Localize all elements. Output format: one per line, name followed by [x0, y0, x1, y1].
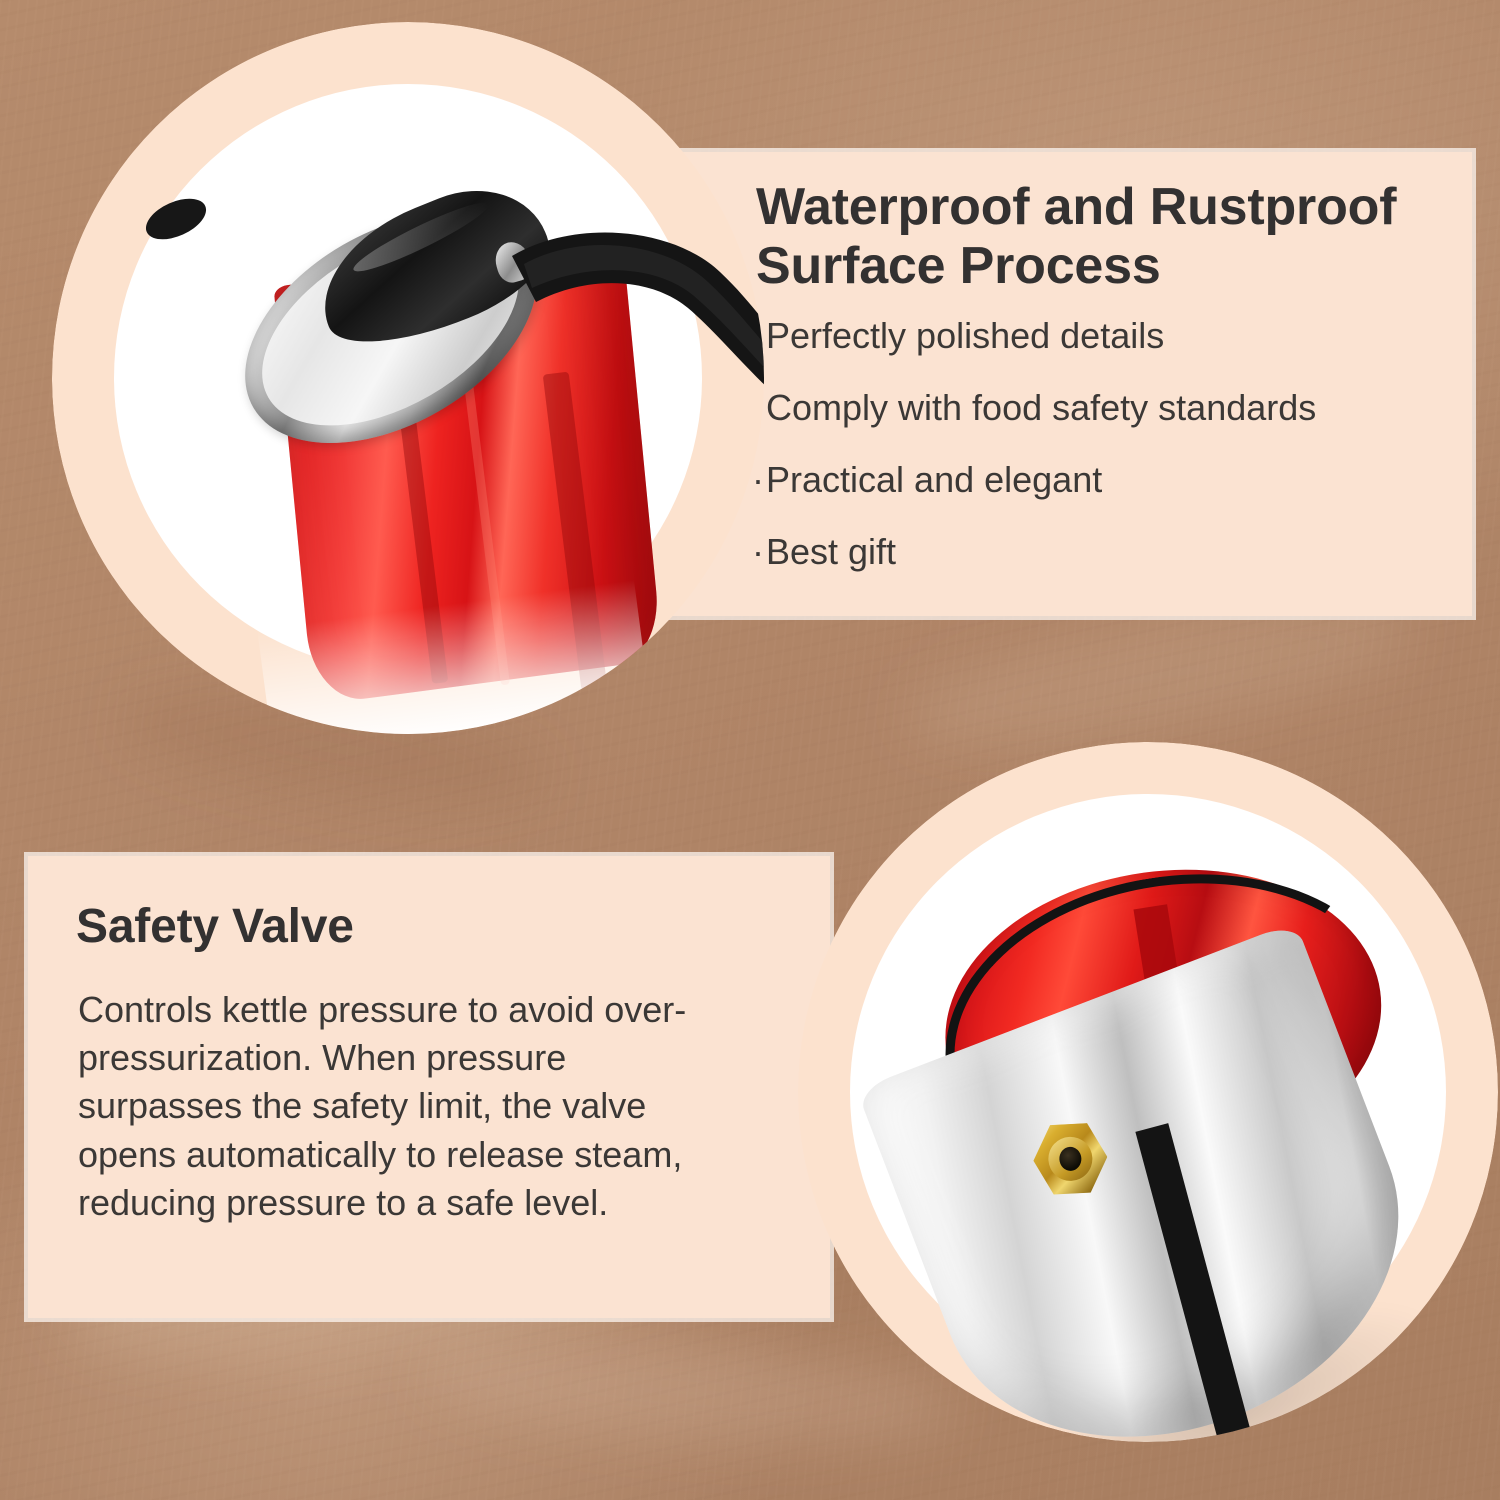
kettle-illustration [114, 84, 702, 672]
page-title-waterproof: Waterproof and Rustproof Surface Process [756, 178, 1476, 296]
kettle-spout-opening [140, 190, 212, 247]
product-photo-kettle [52, 22, 764, 734]
list-item: ·Comply with food safety standards [752, 390, 1452, 426]
list-item: ·Perfectly polished details [752, 318, 1452, 354]
bullet-dot-icon: · [752, 459, 764, 500]
infographic-page: Waterproof and Rustproof Surface Process… [0, 0, 1500, 1500]
product-photo-safety-valve [798, 742, 1498, 1442]
safety-valve-icon [1031, 1120, 1109, 1198]
safety-valve-description: Controls kettle pressure to avoid over-p… [78, 986, 718, 1227]
bullet-dot-icon: · [752, 531, 764, 572]
kettle-base-group [798, 742, 1498, 1442]
list-item-label: Perfectly polished details [766, 315, 1164, 356]
list-item-label: Comply with food safety standards [766, 387, 1316, 428]
photo-backdrop [114, 84, 702, 672]
list-item: ·Best gift [752, 534, 1452, 570]
kettle-handle [506, 226, 764, 426]
list-item-label: Practical and elegant [766, 459, 1102, 500]
list-item: ·Practical and elegant [752, 462, 1452, 498]
list-item-label: Best gift [766, 531, 896, 572]
kettle-base-illustration [850, 794, 1446, 1390]
feature-bullet-list: ·Perfectly polished details ·Comply with… [752, 318, 1452, 606]
photo-backdrop [850, 794, 1446, 1390]
page-title-safety-valve: Safety Valve [76, 900, 354, 954]
